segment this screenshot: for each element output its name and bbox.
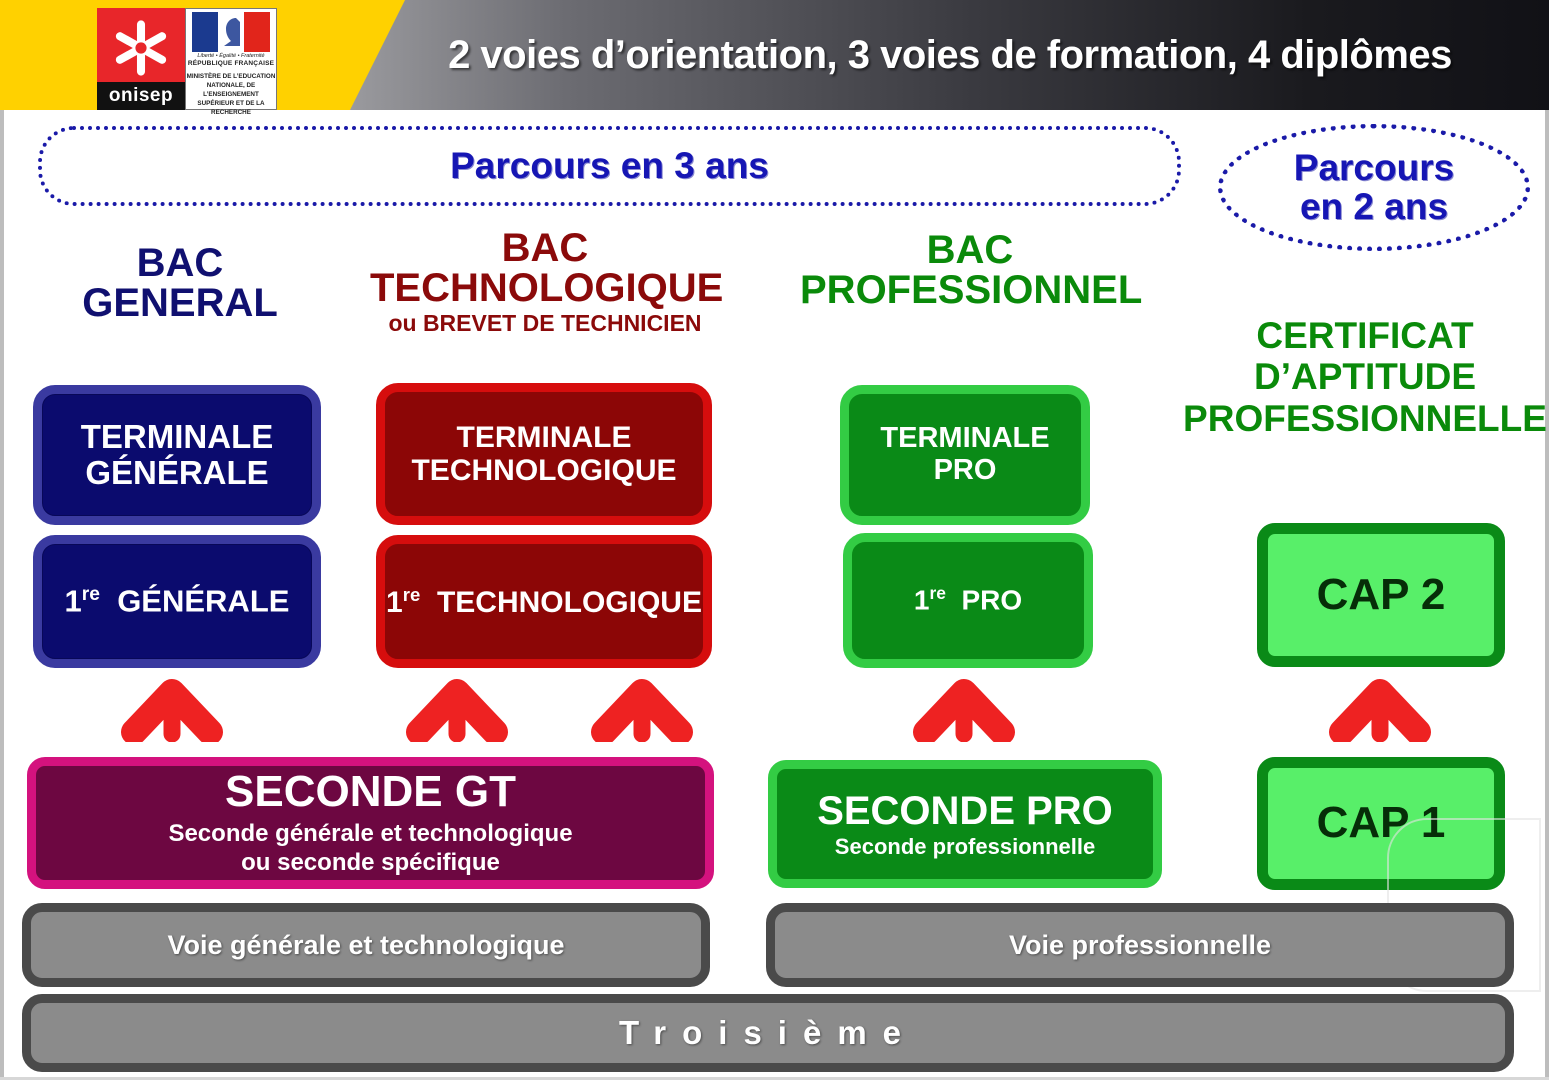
box-premiere-technologique: 1re TECHNOLOGIQUE	[376, 535, 712, 668]
box-premiere-generale: 1re GÉNÉRALE	[33, 535, 321, 668]
bar-voie-generale-technologique: Voie générale et technologique	[22, 903, 710, 987]
onisep-logo: onisep	[97, 8, 185, 110]
box-terminale-techno-line2: TECHNOLOGIQUE	[411, 454, 676, 487]
heading-cap-line2: D’APTITUDE	[1180, 356, 1549, 397]
ministry-logo: Liberté • Égalité • Fraternité RÉPUBLIQU…	[185, 8, 277, 110]
box-terminale-pro-line2: PRO	[934, 455, 997, 487]
heading-bac-techno-line2: TECHNOLOGIQUE	[370, 268, 720, 308]
heading-bac-techno-line1: BAC	[370, 228, 720, 268]
box-seconde-pro: SECONDE PRO Seconde professionnelle	[768, 760, 1162, 888]
box-premiere-pro-label: PRO	[961, 585, 1022, 616]
box-seconde-gt-sub1: Seconde générale et technologique	[168, 820, 572, 849]
heading-bac-general-line2: GENERAL	[60, 283, 300, 323]
heading-bac-general: BAC GENERAL	[60, 243, 300, 323]
frame-right-edge	[1545, 0, 1549, 1080]
box-terminale-pro: TERMINALE PRO	[840, 385, 1090, 525]
arrow-up-icon-seconde-gt-to-premiere-generale	[120, 676, 224, 742]
bar-troisieme: Troisième	[22, 994, 1514, 1072]
box-premiere-generale-sup: re	[82, 584, 100, 605]
capsule-3-ans-label: Parcours en 3 ans	[450, 145, 769, 187]
capsule-parcours-2-ans: Parcours en 2 ans	[1218, 124, 1530, 251]
heading-bac-pro-line1: BAC	[800, 230, 1140, 270]
box-premiere-pro: 1re PRO	[843, 533, 1093, 668]
heading-bac-general-line1: BAC	[60, 243, 300, 283]
box-terminale-pro-line1: TERMINALE	[880, 423, 1049, 455]
republic-name: RÉPUBLIQUE FRANÇAISE	[188, 60, 274, 67]
heading-cap-line1: CERTIFICAT	[1180, 315, 1549, 356]
box-seconde-pro-title: SECONDE PRO	[817, 789, 1113, 833]
box-premiere-techno-num: 1	[386, 586, 403, 619]
box-terminale-techno-line1: TERMINALE	[457, 421, 632, 454]
box-seconde-gt: SECONDE GT Seconde générale et technolog…	[27, 757, 714, 889]
arrow-up-icon-cap1-to-cap2	[1328, 676, 1432, 742]
marianne-profile-icon	[218, 12, 244, 52]
box-seconde-pro-sub: Seconde professionnelle	[835, 835, 1095, 859]
box-premiere-pro-num: 1	[914, 585, 930, 616]
frame-left-edge	[0, 0, 4, 1080]
capsule-parcours-3-ans: Parcours en 3 ans	[38, 126, 1181, 206]
heading-bac-technologique: BAC TECHNOLOGIQUE ou BREVET DE TECHNICIE…	[370, 228, 720, 335]
box-terminale-generale-line2: GÉNÉRALE	[85, 455, 268, 491]
box-premiere-generale-label: GÉNÉRALE	[117, 584, 289, 619]
capsule-2-ans-line2: en 2 ans	[1300, 188, 1448, 227]
page-title: 2 voies d’orientation, 3 voies de format…	[360, 0, 1540, 110]
slide-canvas: 2 voies d’orientation, 3 voies de format…	[0, 0, 1549, 1080]
box-terminale-technologique: TERMINALE TECHNOLOGIQUE	[376, 383, 712, 525]
box-terminale-generale: TERMINALE GÉNÉRALE	[33, 385, 321, 525]
box-cap-2: CAP 2	[1257, 523, 1505, 667]
arrow-up-icon-seconde-pro-to-premiere-pro	[912, 676, 1016, 742]
republic-motto: Liberté • Égalité • Fraternité	[197, 53, 264, 60]
heading-cap-line3: PROFESSIONNELLE	[1180, 398, 1549, 439]
bar-voie-professionnelle: Voie professionnelle	[766, 903, 1514, 987]
heading-bac-pro-line2: PROFESSIONNEL	[800, 270, 1140, 310]
marianne-flag-icon	[192, 12, 270, 52]
box-premiere-generale-num: 1	[65, 584, 82, 619]
box-cap-2-label: CAP 2	[1317, 571, 1446, 619]
box-premiere-techno-label: TECHNOLOGIQUE	[437, 586, 702, 619]
box-seconde-gt-title: SECONDE GT	[225, 768, 516, 816]
heading-bac-professionnel: BAC PROFESSIONNEL	[800, 230, 1140, 310]
box-premiere-techno-sup: re	[403, 584, 421, 605]
onisep-wordmark: onisep	[97, 82, 185, 110]
heading-cap: CERTIFICAT D’APTITUDE PROFESSIONNELLE	[1180, 315, 1549, 439]
logo-group: onisep Liberté • Égalité • Fraternité RÉ…	[97, 8, 277, 110]
arrow-up-icon-seconde-gt-to-premiere-techno-right	[590, 676, 694, 742]
box-seconde-gt-sub2: ou seconde spécifique	[241, 849, 500, 878]
ministry-name: MINISTÈRE DE L’EDUCATION NATIONALE, DE L…	[186, 72, 276, 118]
onisep-asterisk-icon	[110, 17, 172, 79]
box-premiere-pro-sup: re	[929, 583, 945, 603]
box-terminale-generale-line1: TERMINALE	[81, 419, 274, 455]
heading-bac-techno-sub: ou BREVET DE TECHNICIEN	[370, 312, 720, 335]
capsule-2-ans-line1: Parcours	[1294, 149, 1454, 188]
arrow-up-icon-seconde-gt-to-premiere-techno-left	[405, 676, 509, 742]
